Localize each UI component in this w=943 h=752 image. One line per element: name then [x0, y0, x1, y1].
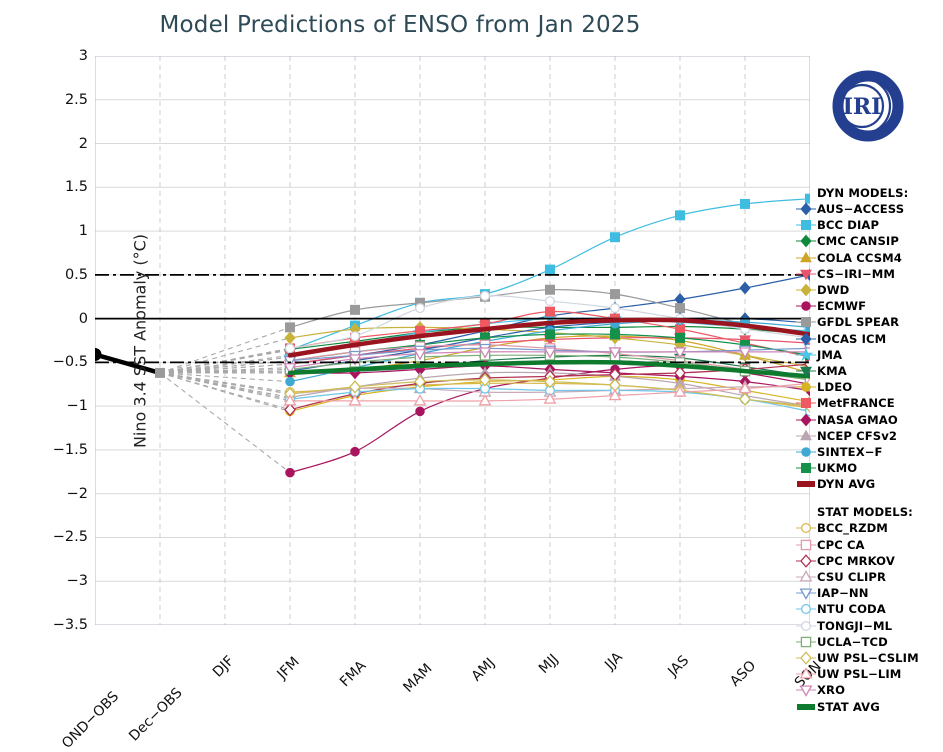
- y-tick--0-5: −0.5: [53, 354, 88, 370]
- legend-label: UW PSL−LIM: [817, 667, 901, 681]
- y-tick--1-5: −1.5: [53, 442, 88, 458]
- legend-item-ncep-cfsv2[interactable]: NCEP CFSv2: [795, 428, 943, 444]
- chart-legend: DYN MODELS: AUS−ACCESSBCC DIAPCMC CANSIP…: [795, 186, 943, 715]
- legend-item-cola-ccsm4[interactable]: COLA CCSM4: [795, 250, 943, 266]
- legend-label: IAP−NN: [817, 586, 869, 600]
- legend-marker-jma: [795, 347, 817, 363]
- legend-label: CPC CA: [817, 538, 865, 552]
- legend-item-ucla-tcd[interactable]: UCLA−TCD: [795, 634, 943, 650]
- legend-item-bcc-diap[interactable]: BCC DIAP: [795, 217, 943, 233]
- legend-marker-kma: [795, 363, 817, 379]
- legend-marker-ncep-cfsv2: [795, 428, 817, 444]
- legend-item-jma[interactable]: JMA: [795, 347, 943, 363]
- legend-label: UKMO: [817, 461, 857, 475]
- legend-item-uw-psl-cslim[interactable]: UW PSL−CSLIM: [795, 650, 943, 666]
- chart-plot-area: Nino 3.4 SST Anomaly (°C) 32.521.510.50−…: [95, 56, 810, 625]
- legend-marker-iap-nn: [795, 585, 817, 601]
- legend-marker-ukmo: [795, 460, 817, 476]
- legend-label: KMA: [817, 364, 847, 378]
- legend-header-stat: STAT MODELS:: [817, 505, 943, 519]
- legend-label: BCC_RZDM: [817, 521, 888, 535]
- y-tick--2: −2: [67, 486, 88, 502]
- legend-item-kma[interactable]: KMA: [795, 363, 943, 379]
- legend-label: NCEP CFSv2: [817, 429, 897, 443]
- legend-marker-aus-access: [795, 201, 817, 217]
- legend-item-cmc-cansip[interactable]: CMC CANSIP: [795, 233, 943, 249]
- legend-marker-stat-avg: [795, 699, 817, 715]
- legend-label: TONGJI−ML: [817, 619, 892, 633]
- legend-label: ECMWF: [817, 299, 866, 313]
- legend-marker-metfrance: [795, 395, 817, 411]
- y-tick-1-5: 1.5: [65, 179, 88, 195]
- legend-label: BCC DIAP: [817, 218, 879, 232]
- page-title: Model Predictions of ENSO from Jan 2025: [0, 12, 800, 38]
- legend-label: GFDL SPEAR: [817, 315, 899, 329]
- legend-label: DYN AVG: [817, 477, 875, 491]
- legend-item-stat-avg[interactable]: STAT AVG: [795, 698, 943, 714]
- x-tick-djf: DJF: [226, 637, 254, 665]
- legend-marker-cpc-ca: [795, 537, 817, 553]
- x-tick-jfm: JFM: [291, 637, 319, 665]
- x-tick-aso: ASO: [748, 637, 780, 669]
- legend-item-xro[interactable]: XRO: [795, 682, 943, 698]
- legend-marker-dyn-avg: [795, 476, 817, 492]
- legend-marker-bcc-rzdm: [795, 520, 817, 536]
- y-tick--3: −3: [67, 573, 88, 589]
- legend-marker-csu-clipr: [795, 569, 817, 585]
- legend-label: NTU CODA: [817, 602, 886, 616]
- legend-label: CS−IRI−MM: [817, 267, 895, 281]
- legend-item-gfdl-spear[interactable]: GFDL SPEAR: [795, 314, 943, 330]
- legend-label: CSU CLIPR: [817, 570, 886, 584]
- legend-header-dyn: DYN MODELS:: [817, 186, 943, 200]
- x-tick-jas: JAS: [681, 637, 708, 664]
- legend-label: JMA: [817, 348, 842, 362]
- legend-marker-uw-psl-cslim: [795, 650, 817, 666]
- legend-label: UW PSL−CSLIM: [817, 651, 919, 665]
- legend-item-dyn-avg[interactable]: DYN AVG: [795, 476, 943, 492]
- y-tick-0-5: 0.5: [65, 267, 88, 283]
- legend-label: COLA CCSM4: [817, 251, 902, 265]
- legend-marker-gfdl-spear: [795, 314, 817, 330]
- legend-item-metfrance[interactable]: MetFRANCE: [795, 395, 943, 411]
- x-tick-fma: FMA: [358, 637, 390, 669]
- legend-marker-dwd: [795, 282, 817, 298]
- legend-marker-nasa-gmao: [795, 412, 817, 428]
- y-tick-2-5: 2.5: [65, 92, 88, 108]
- x-tick-ond-obs: OND−OBS: [111, 637, 174, 700]
- legend-item-ukmo[interactable]: UKMO: [795, 460, 943, 476]
- legend-item-nasa-gmao[interactable]: NASA GMAO: [795, 411, 943, 427]
- y-tick-0: 0: [79, 311, 88, 327]
- legend-marker-cola-ccsm4: [795, 250, 817, 266]
- legend-item-ecmwf[interactable]: ECMWF: [795, 298, 943, 314]
- legend-label: LDEO: [817, 380, 852, 394]
- legend-marker-ecmwf: [795, 298, 817, 314]
- legend-item-ntu-coda[interactable]: NTU CODA: [795, 601, 943, 617]
- legend-marker-cs-iri-mm: [795, 266, 817, 282]
- legend-marker-bcc-diap: [795, 217, 817, 233]
- chart-svg: [95, 56, 810, 625]
- legend-item-sintex-f[interactable]: SINTEX−F: [795, 444, 943, 460]
- legend-marker-uw-psl-lim: [795, 666, 817, 682]
- x-tick-mjj: MJJ: [550, 637, 576, 663]
- legend-label: CPC MRKOV: [817, 554, 895, 568]
- legend-item-csu-clipr[interactable]: CSU CLIPR: [795, 569, 943, 585]
- legend-label: DWD: [817, 283, 849, 297]
- legend-item-ldeo[interactable]: LDEO: [795, 379, 943, 395]
- legend-marker-iocas-icm: [795, 331, 817, 347]
- legend-label: IOCAS ICM: [817, 332, 886, 346]
- legend-label: STAT AVG: [817, 700, 880, 714]
- legend-item-bcc-rzdm[interactable]: BCC_RZDM: [795, 520, 943, 536]
- legend-item-aus-access[interactable]: AUS−ACCESS: [795, 201, 943, 217]
- x-tick-amj: AMJ: [487, 637, 517, 667]
- legend-label: UCLA−TCD: [817, 635, 888, 649]
- legend-marker-sintex-f: [795, 444, 817, 460]
- legend-label: XRO: [817, 683, 845, 697]
- legend-item-cpc-mrkov[interactable]: CPC MRKOV: [795, 553, 943, 569]
- legend-marker-cmc-cansip: [795, 233, 817, 249]
- x-tick-mam: MAM: [424, 637, 459, 672]
- legend-item-cpc-ca[interactable]: CPC CA: [795, 537, 943, 553]
- legend-marker-ldeo: [795, 379, 817, 395]
- y-axis-label: Nino 3.4 SST Anomaly (°C): [131, 233, 150, 447]
- legend-label: AUS−ACCESS: [817, 202, 904, 216]
- legend-item-tongji-ml[interactable]: TONGJI−ML: [795, 618, 943, 634]
- y-tick-2: 2: [79, 136, 88, 152]
- legend-marker-ucla-tcd: [795, 634, 817, 650]
- legend-label: NASA GMAO: [817, 413, 898, 427]
- legend-marker-ntu-coda: [795, 601, 817, 617]
- legend-label: MetFRANCE: [817, 396, 895, 410]
- y-tick-3: 3: [79, 48, 88, 64]
- legend-item-cs-iri-mm[interactable]: CS−IRI−MM: [795, 266, 943, 282]
- legend-item-iocas-icm[interactable]: IOCAS ICM: [795, 331, 943, 347]
- legend-label: CMC CANSIP: [817, 234, 899, 248]
- y-tick--2-5: −2.5: [53, 529, 88, 545]
- legend-item-uw-psl-lim[interactable]: UW PSL−LIM: [795, 666, 943, 682]
- legend-stat-list: BCC_RZDMCPC CACPC MRKOVCSU CLIPRIAP−NNNT…: [795, 520, 943, 714]
- legend-item-dwd[interactable]: DWD: [795, 282, 943, 298]
- legend-marker-cpc-mrkov: [795, 553, 817, 569]
- iri-logo: IRI: [818, 58, 914, 154]
- y-tick--1: −1: [67, 398, 88, 414]
- y-tick-1: 1: [79, 223, 88, 239]
- svg-text:IRI: IRI: [843, 94, 882, 120]
- legend-dyn-list: AUS−ACCESSBCC DIAPCMC CANSIPCOLA CCSM4CS…: [795, 201, 943, 492]
- legend-marker-tongji-ml: [795, 618, 817, 634]
- x-tick-jja: JJA: [614, 637, 638, 661]
- y-tick--3-5: −3.5: [53, 617, 88, 633]
- legend-label: SINTEX−F: [817, 445, 883, 459]
- legend-item-iap-nn[interactable]: IAP−NN: [795, 585, 943, 601]
- legend-marker-xro: [795, 682, 817, 698]
